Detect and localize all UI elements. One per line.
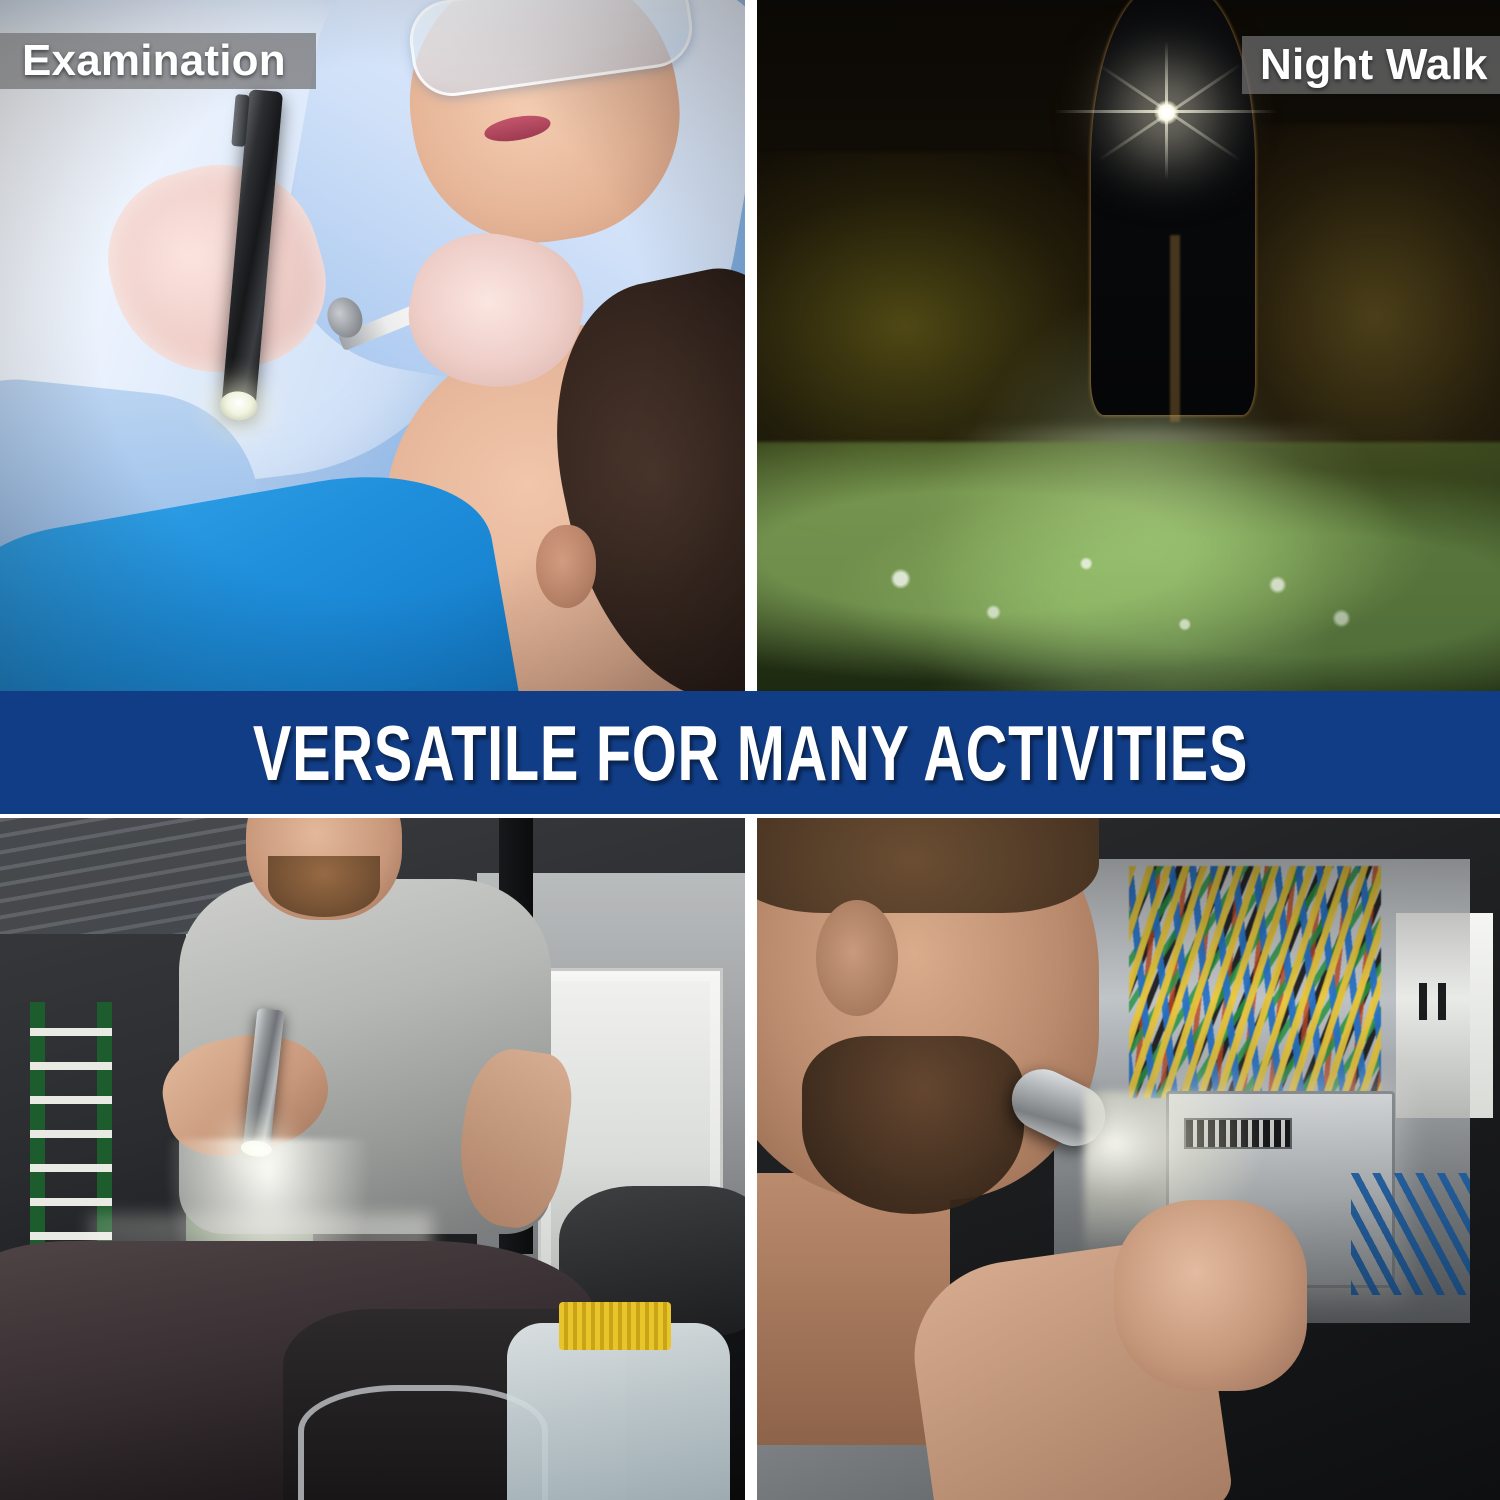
- examination-scene-image: [0, 0, 745, 691]
- technician-ear: [816, 900, 898, 1016]
- nightwalk-scene-image: [757, 0, 1500, 691]
- caption-chip-examination: Examination: [0, 33, 316, 89]
- caption-label-nightwalk: Night Walk: [1260, 40, 1488, 90]
- gravel-speckles: [831, 518, 1411, 670]
- repairing-scene-image: [0, 818, 745, 1500]
- panel-examination: Examination: [0, 0, 745, 691]
- panel-repairing: Repairing: [0, 818, 745, 1500]
- walker-leg-rimlight: [1170, 235, 1180, 422]
- caption-chip-nightwalk: Night Walk: [1242, 36, 1500, 94]
- technician-hand: [1114, 1200, 1307, 1391]
- panel-nightwalk: Night Walk: [757, 0, 1500, 691]
- flashlight-beam-source: [1153, 100, 1180, 125]
- caption-label-examination: Examination: [22, 36, 286, 86]
- technician-beard: [802, 1036, 1025, 1213]
- technician-hair: [757, 818, 1099, 913]
- mechanic-beard: [268, 856, 380, 917]
- product-feature-infographic: Examination Night Walk VERSATILE FOR MAN…: [0, 0, 1500, 1500]
- yellow-reservoir-cap: [559, 1302, 671, 1350]
- headline-text: VERSATILE FOR MANY ACTIVITIES: [252, 714, 1247, 792]
- detection-scene-image: [757, 818, 1500, 1500]
- panel-detection: Detection: [757, 818, 1500, 1500]
- patient-ear: [536, 525, 596, 608]
- headline-banner: VERSATILE FOR MANY ACTIVITIES: [0, 691, 1500, 814]
